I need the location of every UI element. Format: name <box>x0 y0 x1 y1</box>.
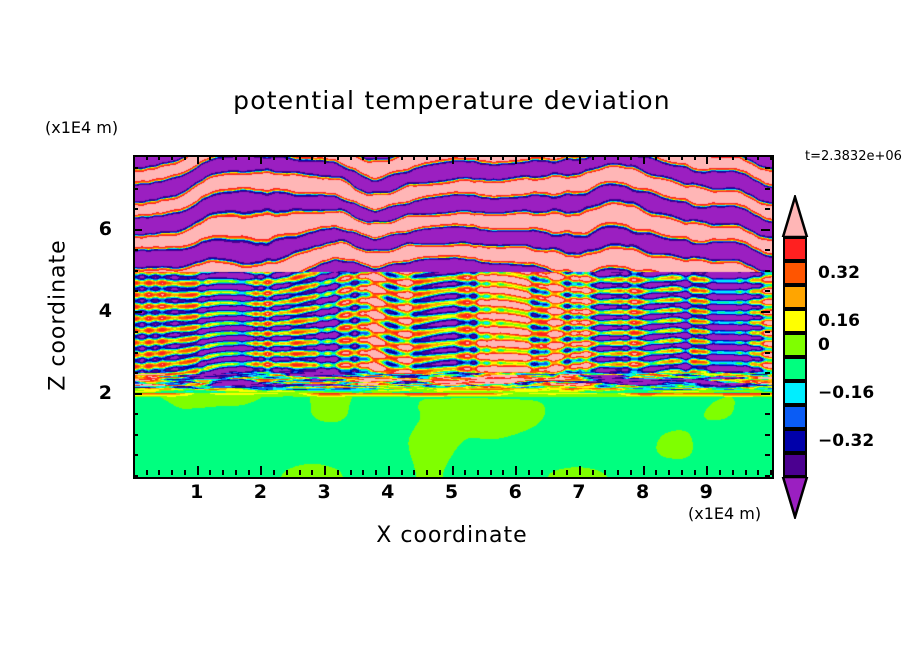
tick-mark <box>375 470 377 475</box>
tick-mark <box>745 470 747 475</box>
tick-mark <box>401 155 403 160</box>
tick-mark <box>133 229 142 231</box>
x-axis-unit-label: (x1E4 m) <box>688 504 761 523</box>
tick-mark <box>765 290 770 292</box>
x-tick-label: 3 <box>317 481 330 503</box>
tick-mark <box>617 470 619 475</box>
tick-mark <box>133 249 138 251</box>
x-axis-title: X coordinate <box>0 523 904 548</box>
colorbar-band <box>783 237 807 261</box>
tick-mark <box>655 470 657 475</box>
x-tick-label: 8 <box>636 481 649 503</box>
tick-mark <box>324 466 326 475</box>
colorbar-band <box>783 405 807 429</box>
x-tick-label: 4 <box>381 481 394 503</box>
tick-mark <box>681 155 683 160</box>
tick-mark <box>133 331 138 333</box>
colorbar-band <box>783 285 807 309</box>
tick-mark <box>273 155 275 160</box>
tick-mark <box>146 470 148 475</box>
colorbar-tick-label: 0.16 <box>818 311 860 331</box>
x-tick-label: 2 <box>254 481 267 503</box>
tick-mark <box>706 155 708 164</box>
tick-mark <box>604 470 606 475</box>
tick-mark <box>655 155 657 160</box>
colorbar-band <box>783 453 807 477</box>
tick-mark <box>337 155 339 160</box>
tick-mark <box>490 470 492 475</box>
tick-mark <box>413 470 415 475</box>
tick-mark <box>765 270 770 272</box>
tick-mark <box>694 155 696 160</box>
tick-mark <box>146 155 148 160</box>
tick-mark <box>761 311 770 313</box>
tick-mark <box>184 155 186 160</box>
tick-mark <box>260 466 262 475</box>
tick-mark <box>566 470 568 475</box>
colorbar-tick-label: −0.32 <box>818 431 874 451</box>
tick-mark <box>464 155 466 160</box>
tick-mark <box>248 155 250 160</box>
tick-mark <box>765 331 770 333</box>
tick-mark <box>566 155 568 160</box>
tick-mark <box>541 155 543 160</box>
tick-mark <box>133 208 138 210</box>
tick-mark <box>413 155 415 160</box>
tick-mark <box>362 155 364 160</box>
tick-mark <box>761 393 770 395</box>
tick-mark <box>643 466 645 475</box>
y-tick-label: 4 <box>99 300 112 322</box>
tick-mark <box>426 470 428 475</box>
tick-mark <box>439 470 441 475</box>
tick-mark <box>375 155 377 160</box>
tick-mark <box>158 470 160 475</box>
tick-mark <box>732 155 734 160</box>
tick-mark <box>765 454 770 456</box>
tick-mark <box>209 155 211 160</box>
tick-mark <box>604 155 606 160</box>
tick-mark <box>426 155 428 160</box>
tick-mark <box>273 470 275 475</box>
tick-mark <box>133 475 138 477</box>
tick-mark <box>286 155 288 160</box>
tick-mark <box>133 372 138 374</box>
tick-mark <box>757 470 759 475</box>
tick-mark <box>643 155 645 164</box>
tick-mark <box>502 470 504 475</box>
tick-mark <box>770 470 772 475</box>
tick-mark <box>337 470 339 475</box>
tick-mark <box>477 470 479 475</box>
timestamp-label: t=2.3832e+06 <box>805 149 902 164</box>
tick-mark <box>553 155 555 160</box>
tick-mark <box>171 155 173 160</box>
tick-mark <box>694 470 696 475</box>
tick-mark <box>592 155 594 160</box>
colorbar-under-arrow <box>778 477 818 519</box>
tick-mark <box>133 188 138 190</box>
tick-mark <box>765 188 770 190</box>
tick-mark <box>706 466 708 475</box>
tick-mark <box>197 466 199 475</box>
tick-mark <box>630 155 632 160</box>
colorbar <box>778 195 818 525</box>
tick-mark <box>222 155 224 160</box>
colorbar-band <box>783 429 807 453</box>
tick-mark <box>765 167 770 169</box>
tick-mark <box>299 155 301 160</box>
colorbar-tick-label: 0.32 <box>818 263 860 283</box>
tick-mark <box>133 352 138 354</box>
tick-mark <box>668 155 670 160</box>
tick-mark <box>388 466 390 475</box>
tick-mark <box>222 470 224 475</box>
tick-mark <box>745 155 747 160</box>
tick-mark <box>765 475 770 477</box>
tick-mark <box>579 155 581 164</box>
tick-mark <box>133 290 138 292</box>
colorbar-band <box>783 381 807 405</box>
tick-mark <box>630 470 632 475</box>
tick-mark <box>477 155 479 160</box>
tick-mark <box>235 155 237 160</box>
tick-mark <box>579 466 581 475</box>
tick-mark <box>515 155 517 164</box>
tick-mark <box>248 470 250 475</box>
plot-canvas: potential temperature deviation (x1E4 m)… <box>0 0 904 654</box>
tick-mark <box>528 155 530 160</box>
tick-mark <box>732 470 734 475</box>
tick-mark <box>133 167 138 169</box>
tick-mark <box>515 466 517 475</box>
tick-mark <box>765 372 770 374</box>
page-title: potential temperature deviation <box>0 86 904 115</box>
tick-mark <box>286 470 288 475</box>
colorbar-tick-label: −0.16 <box>818 383 874 403</box>
tick-mark <box>388 155 390 164</box>
tick-mark <box>184 470 186 475</box>
tick-mark <box>235 470 237 475</box>
tick-mark <box>765 352 770 354</box>
x-tick-label: 9 <box>700 481 713 503</box>
colorbar-band <box>783 333 807 357</box>
y-axis-unit-label: (x1E4 m) <box>45 118 118 137</box>
tick-mark <box>502 155 504 160</box>
tick-mark <box>133 393 142 395</box>
y-tick-label: 6 <box>99 218 112 240</box>
y-axis-title: Z coordinate <box>46 239 71 390</box>
tick-mark <box>765 208 770 210</box>
tick-mark <box>681 470 683 475</box>
tick-mark <box>719 155 721 160</box>
tick-mark <box>133 270 138 272</box>
x-tick-label: 1 <box>190 481 203 503</box>
tick-mark <box>528 470 530 475</box>
tick-mark <box>311 470 313 475</box>
tick-mark <box>490 155 492 160</box>
tick-mark <box>770 155 772 160</box>
contour-field <box>135 157 772 477</box>
tick-mark <box>209 470 211 475</box>
colorbar-band <box>783 309 807 333</box>
tick-mark <box>362 470 364 475</box>
colorbar-band <box>783 261 807 285</box>
tick-mark <box>158 155 160 160</box>
tick-mark <box>757 155 759 160</box>
tick-mark <box>439 155 441 160</box>
tick-mark <box>464 470 466 475</box>
contour-plot-area <box>133 155 774 479</box>
tick-mark <box>452 155 454 164</box>
tick-mark <box>761 229 770 231</box>
colorbar-tick-label: 0 <box>818 335 830 355</box>
tick-mark <box>541 470 543 475</box>
tick-mark <box>350 470 352 475</box>
tick-mark <box>133 155 135 160</box>
tick-mark <box>592 470 594 475</box>
tick-mark <box>401 470 403 475</box>
tick-mark <box>765 434 770 436</box>
tick-mark <box>260 155 262 164</box>
tick-mark <box>765 249 770 251</box>
tick-mark <box>617 155 619 160</box>
tick-mark <box>299 470 301 475</box>
tick-mark <box>133 413 138 415</box>
tick-mark <box>133 311 142 313</box>
tick-mark <box>668 470 670 475</box>
tick-mark <box>765 413 770 415</box>
tick-mark <box>553 470 555 475</box>
tick-mark <box>133 434 138 436</box>
tick-mark <box>171 470 173 475</box>
x-tick-label: 6 <box>509 481 522 503</box>
colorbar-over-arrow <box>778 195 818 237</box>
tick-mark <box>452 466 454 475</box>
tick-mark <box>719 470 721 475</box>
tick-mark <box>197 155 199 164</box>
colorbar-band <box>783 357 807 381</box>
x-tick-label: 7 <box>572 481 585 503</box>
tick-mark <box>324 155 326 164</box>
tick-mark <box>311 155 313 160</box>
x-tick-label: 5 <box>445 481 458 503</box>
tick-mark <box>350 155 352 160</box>
tick-mark <box>133 454 138 456</box>
y-tick-label: 2 <box>99 382 112 404</box>
